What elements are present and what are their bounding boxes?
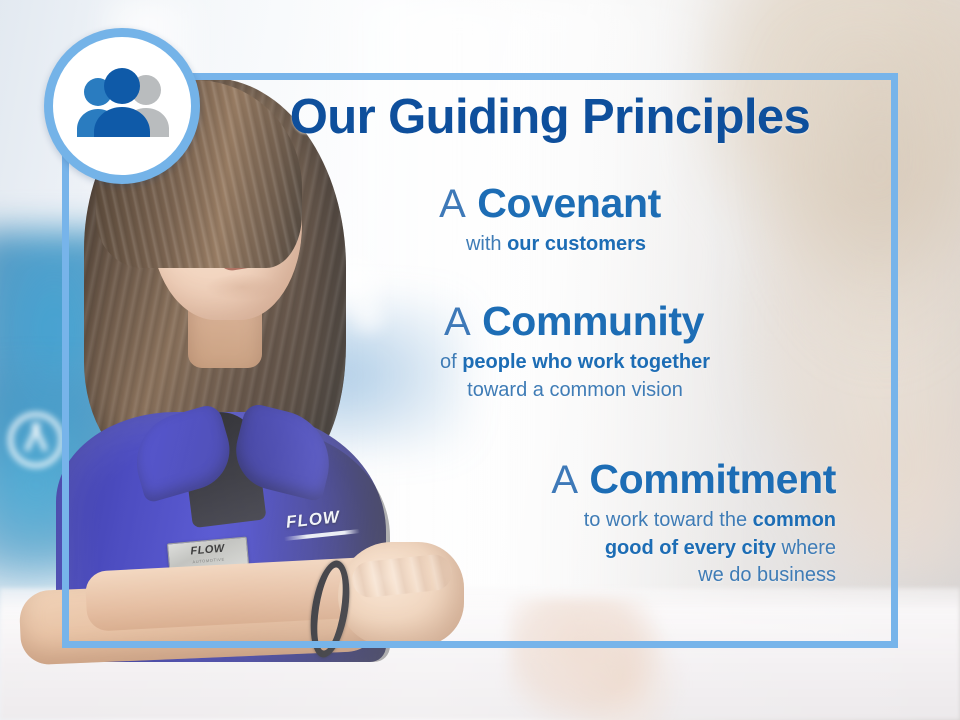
- subtitle-line: good of every city where: [300, 535, 836, 562]
- principle-subtitle: to work toward the commongood of every c…: [300, 507, 860, 589]
- values-banner-graphic: FLOW AUTOMOTIVE FLOW: [0, 0, 960, 720]
- name-badge-subtitle: AUTOMOTIVE: [192, 557, 225, 565]
- subtitle-line: to work toward the common: [300, 507, 836, 534]
- subtitle-line: of people who work together: [300, 349, 850, 376]
- subtitle-line: with our customers: [300, 231, 812, 258]
- principle-subtitle: with our customers: [300, 231, 860, 258]
- principle-title: A Commitment: [300, 458, 860, 501]
- subtitle-line: we do business: [300, 562, 836, 589]
- principle-keyword: Community: [482, 298, 704, 344]
- principle-covenant: A Covenant with our customers: [300, 182, 860, 259]
- principle-commitment: A Commitment to work toward the commongo…: [300, 458, 860, 589]
- principle-article: A: [444, 300, 471, 344]
- principle-community: A Community of people who work togethert…: [300, 300, 860, 404]
- blurred-customer-hand: [508, 598, 684, 720]
- chin-shadow: [206, 274, 278, 300]
- principle-article: A: [551, 458, 578, 502]
- principle-title: A Covenant: [300, 182, 860, 225]
- principle-keyword: Commitment: [589, 456, 836, 502]
- people-group-icon: [70, 67, 174, 145]
- page-title: Our Guiding Principles: [220, 92, 880, 143]
- principle-keyword: Covenant: [477, 180, 661, 226]
- subtitle-line: toward a common vision: [300, 377, 850, 404]
- principle-subtitle: of people who work togethertoward a comm…: [300, 349, 860, 403]
- principle-article: A: [439, 182, 466, 226]
- principle-title: A Community: [300, 300, 860, 343]
- people-group-badge: [44, 28, 200, 184]
- name-badge-brand: FLOW: [190, 544, 225, 558]
